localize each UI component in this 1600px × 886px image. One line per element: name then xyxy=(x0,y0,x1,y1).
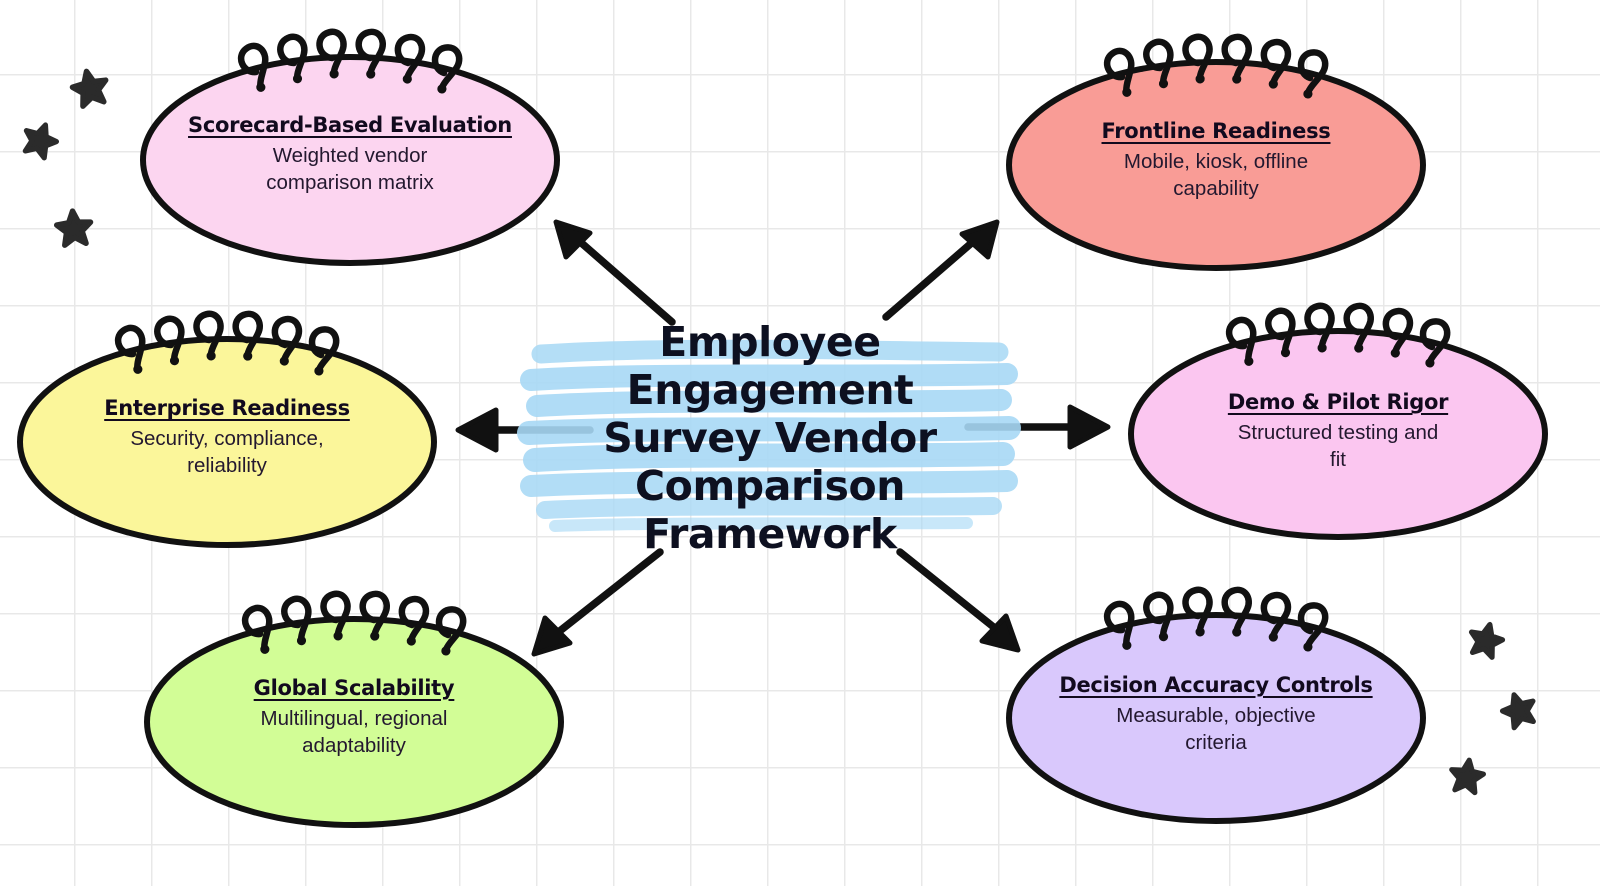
node-frontline-readiness[interactable] xyxy=(1009,36,1423,268)
center-topic[interactable]: Employee Engagement Survey Vendor Compar… xyxy=(515,338,1025,538)
node-decision-accuracy-controls[interactable] xyxy=(1009,589,1423,821)
node-global-scalability[interactable] xyxy=(147,593,561,825)
mindmap-canvas: Scorecard-Based Evaluation Weighted vend… xyxy=(0,0,1600,886)
node-scorecard-based-evaluation[interactable] xyxy=(143,31,557,263)
center-topic-label: Employee Engagement Survey Vendor Compar… xyxy=(515,318,1025,558)
center-topic-line2: Survey Vendor xyxy=(603,414,937,462)
node-demo-and-pilot-rigor[interactable] xyxy=(1131,305,1545,537)
center-topic-line1: Employee Engagement xyxy=(627,318,914,414)
center-topic-line3: Comparison Framework xyxy=(635,462,905,558)
node-enterprise-readiness[interactable] xyxy=(20,313,434,545)
